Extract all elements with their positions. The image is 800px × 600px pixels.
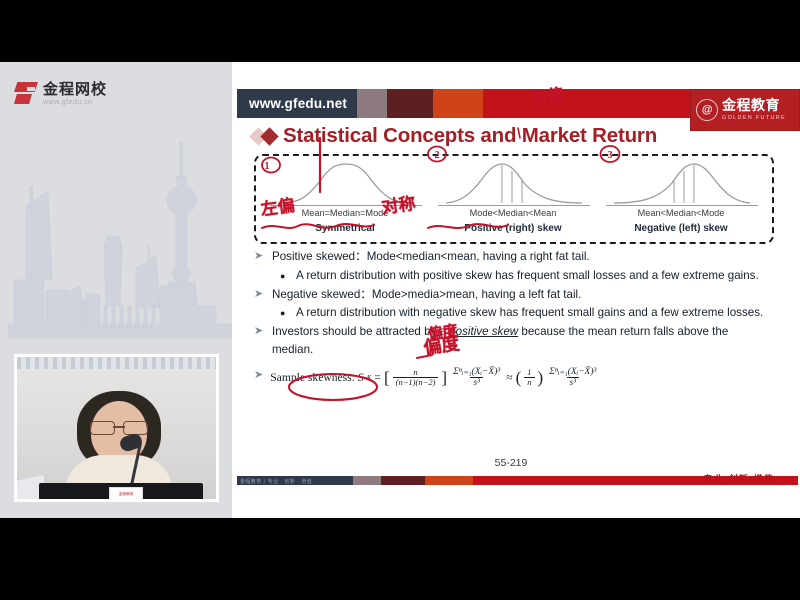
footer-slogan: 专业·创新·增值 bbox=[704, 472, 774, 485]
symmetrical-relation: Mean=Median=Mode bbox=[266, 208, 424, 218]
formula-sum2-den: s³ bbox=[567, 377, 580, 388]
negative-skew-relation: Mean<Median<Mode bbox=[602, 208, 760, 218]
bullet-item: ● A return distribution with positive sk… bbox=[280, 267, 772, 285]
school-logo-cn: 金程网校 bbox=[43, 82, 107, 97]
formula-sk-sub: K bbox=[367, 374, 372, 382]
header-swatch-maroon bbox=[387, 89, 433, 118]
bullet-text: Negative skewed：Mode>media>mean, having … bbox=[272, 286, 581, 304]
arrow-bullet-icon: ➤ bbox=[254, 367, 263, 384]
bullet-item: ● A return distribution with negative sk… bbox=[280, 304, 772, 322]
golden-future-logo: @ 金程教育 GOLDEN FUTURE bbox=[690, 89, 800, 131]
arrow-bullet-icon: ➤ bbox=[254, 323, 265, 358]
lectern-nameplate: 金程教育 bbox=[109, 487, 143, 502]
formula-label: Sample skewness: bbox=[270, 371, 355, 384]
footer-swatch-maroon bbox=[381, 476, 425, 485]
footer-swatch-mauve bbox=[353, 476, 381, 485]
formula-paren-open: ( bbox=[516, 368, 522, 388]
formula-sum-num: Σⁿᵢ₌₁(Xᵢ−X̄)³ bbox=[450, 367, 503, 377]
bullet-text: A return distribution with positive skew… bbox=[296, 267, 759, 285]
formula-approx: ≈ bbox=[506, 371, 512, 384]
shanghai-skyline-watermark bbox=[8, 128, 232, 348]
symmetrical-curve-icon bbox=[276, 161, 416, 204]
investor-line-pre: Investors should be attracted by a bbox=[272, 325, 449, 338]
logo-en-text: GOLDEN FUTURE bbox=[722, 115, 786, 121]
distribution-negative-skew: Mean<Median<Mode Negative (left) skew bbox=[602, 161, 760, 237]
formula-bracket-open: [ bbox=[384, 368, 390, 388]
formula-coef-den: (n−1)(n−2) bbox=[393, 377, 439, 387]
lecture-video-frame: 金程网校 www.gfedu.cn bbox=[0, 62, 800, 518]
distribution-positive-skew: Mode<Median<Mean Positive (right) skew bbox=[434, 161, 592, 237]
formula-bracket-close: ] bbox=[441, 368, 447, 388]
negative-skew-caption: Negative (left) skew bbox=[602, 223, 760, 234]
formula-inv-num: 1 bbox=[524, 368, 534, 377]
formula-coef-num: n bbox=[410, 368, 420, 377]
slide-title-row: Statistical Concepts and Market Return bbox=[252, 124, 657, 148]
distribution-symmetrical: Mean=Median=Mode Symmetrical bbox=[266, 161, 424, 237]
bullet-item: ➤ Negative skewed：Mode>media>mean, havin… bbox=[254, 286, 772, 304]
whiteboard-strip bbox=[17, 357, 216, 369]
arrow-bullet-icon: ➤ bbox=[254, 248, 265, 266]
dot-bullet-icon: ● bbox=[280, 304, 289, 322]
formula-inv-den: n bbox=[524, 377, 534, 387]
formula-coefficient: n (n−1)(n−2) bbox=[393, 368, 439, 387]
dot-bullet-icon: ● bbox=[280, 267, 289, 285]
formula-inverse-n: 1 n bbox=[524, 368, 534, 387]
bullet-text: A return distribution with negative skew… bbox=[296, 304, 763, 322]
lectern-nameplate-text: 金程教育 bbox=[110, 492, 142, 497]
gfedu-logo-icon bbox=[14, 82, 38, 104]
logo-seal-icon: @ bbox=[696, 99, 718, 121]
investor-line-emphasis: positive skew bbox=[449, 325, 518, 338]
logo-cn-text: 金程教育 bbox=[722, 99, 786, 113]
bullet-text: Positive skewed：Mode<median<mean, having… bbox=[272, 248, 590, 266]
formula-sum-den: s³ bbox=[470, 377, 483, 388]
instructor-webcam-tile[interactable]: 金程教育 bbox=[14, 354, 219, 502]
symmetrical-caption: Symmetrical bbox=[266, 223, 424, 234]
page-title: Statistical Concepts and Market Return bbox=[283, 124, 657, 148]
formula-sum-term: Σⁿᵢ₌₁(Xᵢ−X̄)³ s³ bbox=[450, 367, 503, 389]
formula-sum-term-2: Σⁿᵢ₌₁(Xᵢ−X̄)³ s³ bbox=[546, 367, 599, 389]
header-swatch-mauve bbox=[357, 89, 387, 118]
positive-skew-relation: Mode<Median<Mean bbox=[434, 208, 592, 218]
footer-ghost-text: 金程教育 / 专业 · 创新 · 增值 bbox=[240, 478, 312, 485]
formula-equals: = bbox=[374, 371, 381, 384]
footer-swatch-orange bbox=[425, 476, 473, 485]
positive-skew-caption: Positive (right) skew bbox=[434, 223, 592, 234]
left-skew-curve-icon bbox=[612, 161, 752, 204]
distribution-diagram-group: Mean=Median=Mode Symmetrical Mode<Median… bbox=[254, 154, 774, 244]
formula-sk: S bbox=[358, 371, 364, 384]
right-skew-curve-icon bbox=[444, 161, 584, 204]
glasses-icon bbox=[90, 421, 148, 433]
header-swatch-orange bbox=[433, 89, 483, 118]
footer-swatch-navy: 金程教育 / 专业 · 创新 · 增值 bbox=[237, 476, 353, 485]
bullet-item: ➤ Positive skewed：Mode<median<mean, havi… bbox=[254, 248, 772, 266]
site-url-chip: www.gfedu.net bbox=[237, 89, 357, 118]
slide-area: www.gfedu.net @ 金程教育 GOLDEN FUTURE Stati… bbox=[232, 62, 800, 518]
formula-paren-close: ) bbox=[538, 368, 544, 388]
bullet-item-investors: ➤ Investors should be attracted by a pos… bbox=[254, 323, 772, 358]
left-branding-panel: 金程网校 www.gfedu.cn bbox=[0, 62, 232, 518]
video-player-stage: 金程网校 www.gfedu.cn bbox=[0, 0, 800, 600]
school-logo-url: www.gfedu.cn bbox=[43, 99, 107, 106]
bullet-list: ➤ Positive skewed：Mode<median<mean, havi… bbox=[254, 248, 772, 359]
diamond-bullet-dark-icon bbox=[260, 127, 278, 145]
formula-sum2-num: Σⁿᵢ₌₁(Xᵢ−X̄)³ bbox=[546, 367, 599, 377]
footer-end-cap bbox=[776, 476, 798, 485]
skewness-formula-row: ➤ Sample skewness: SK = [ n (n−1)(n−2) ]… bbox=[254, 367, 599, 389]
school-logo: 金程网校 www.gfedu.cn bbox=[14, 82, 107, 106]
page-number: 55-219 bbox=[232, 457, 790, 469]
site-url-text: www.gfedu.net bbox=[249, 96, 347, 111]
arrow-bullet-icon: ➤ bbox=[254, 286, 265, 304]
